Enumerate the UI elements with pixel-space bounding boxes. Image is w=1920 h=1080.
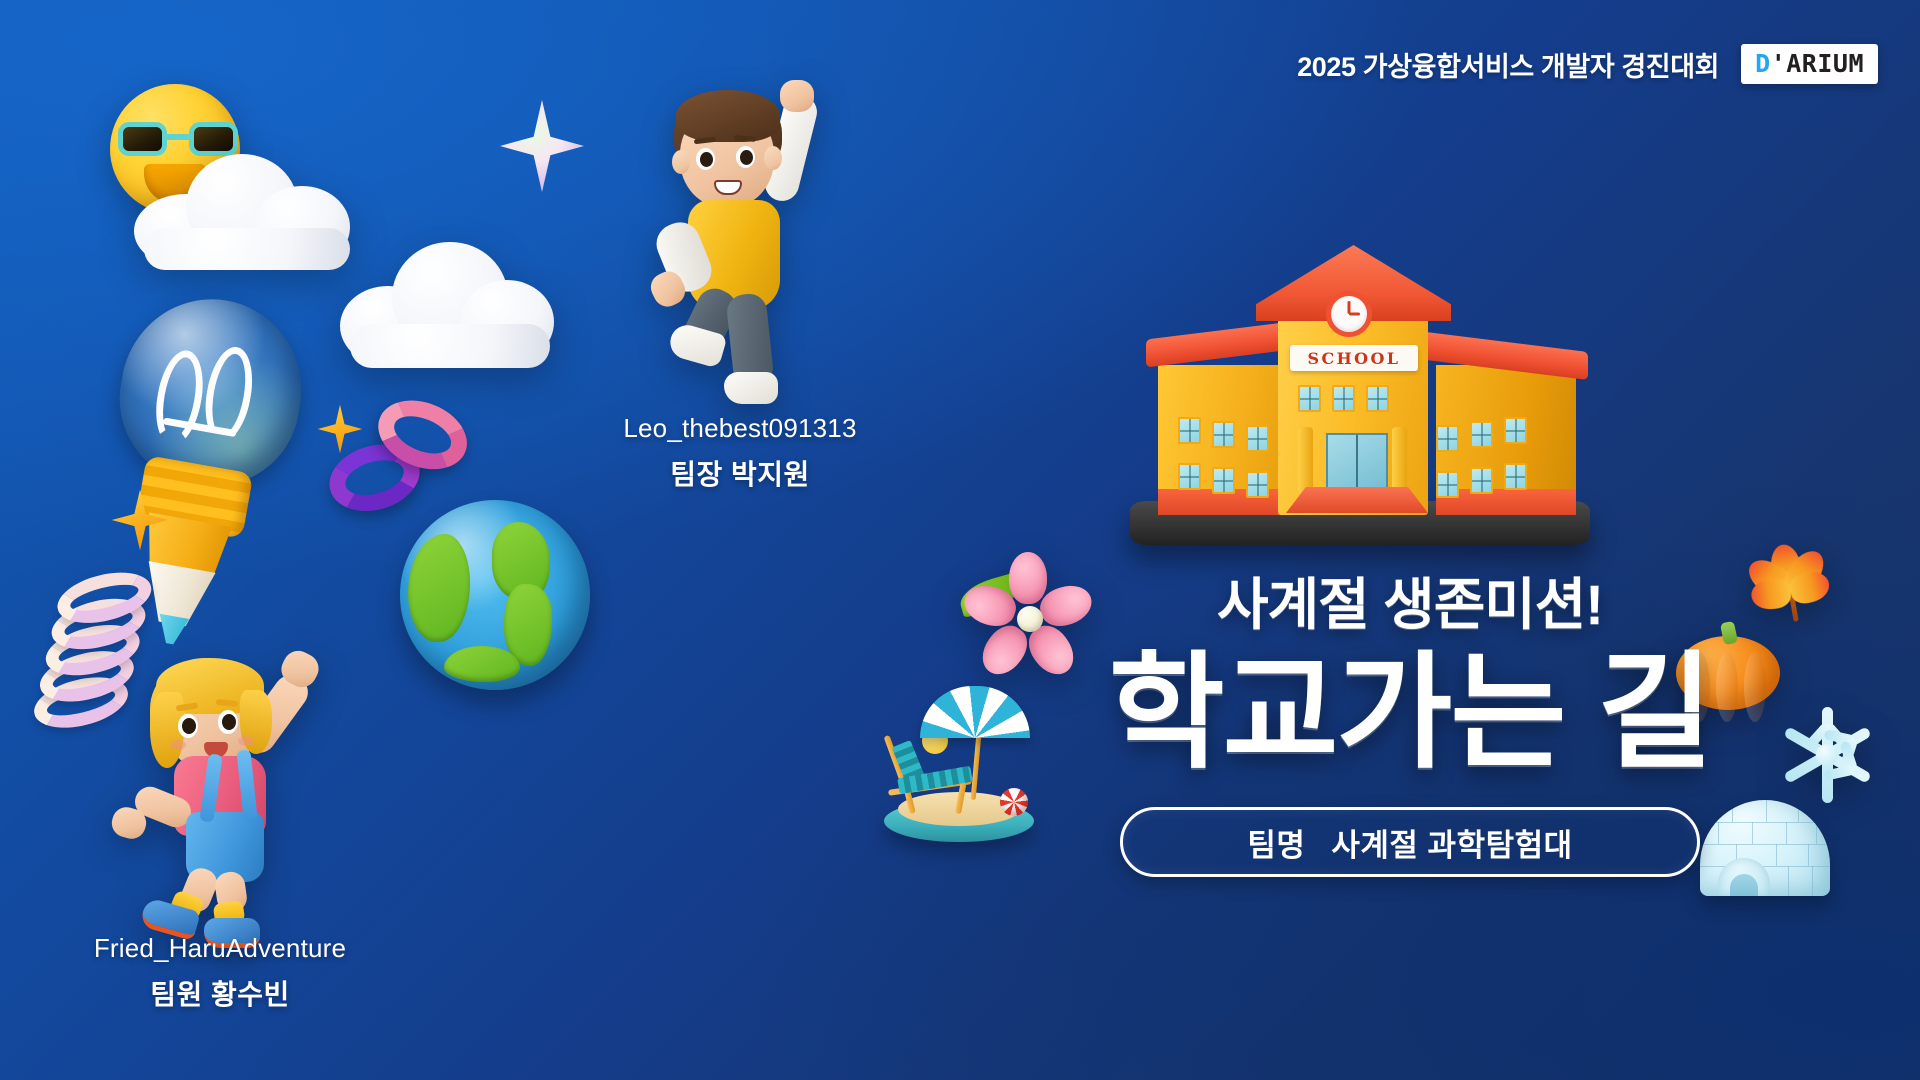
team-name-badge: 팀명 사계절 과학탐험대 bbox=[1120, 807, 1700, 877]
boy-character-icon bbox=[648, 72, 848, 402]
title-block: 사계절 생존미션! 학교가는 길 팀명 사계절 과학탐험대 bbox=[1040, 560, 1780, 877]
beach-ball-icon bbox=[1000, 788, 1028, 816]
girl-character-icon bbox=[112, 636, 362, 936]
school-building-icon: SCHOOL bbox=[1130, 245, 1590, 545]
member-handle: Fried_HaruAdventure bbox=[50, 932, 390, 966]
darium-logo: D 'ARIUM bbox=[1741, 44, 1878, 84]
cloud-icon bbox=[340, 240, 560, 370]
member-role: 팀원 황수빈 bbox=[50, 973, 390, 1013]
team-label: 팀명 bbox=[1247, 820, 1305, 865]
snowflake-icon bbox=[1772, 700, 1882, 810]
school-door bbox=[1326, 433, 1388, 493]
leader-role: 팀장 박지원 bbox=[600, 453, 880, 493]
team-name: 사계절 과학탐험대 bbox=[1331, 820, 1572, 865]
cloud-icon bbox=[130, 150, 360, 270]
globe-icon bbox=[400, 500, 590, 690]
logo-accent-letter: D bbox=[1755, 51, 1771, 76]
page-title: 학교가는 길 bbox=[1040, 647, 1780, 779]
beach-umbrella-chair-icon bbox=[884, 672, 1034, 842]
subtitle: 사계절 생존미션! bbox=[1040, 560, 1780, 641]
iridescent-sparkle-icon bbox=[500, 100, 584, 192]
team-member-label: Fried_HaruAdventure 팀원 황수빈 bbox=[50, 932, 390, 1013]
school-sign: SCHOOL bbox=[1290, 345, 1418, 371]
leader-handle: Leo_thebest091313 bbox=[600, 412, 880, 446]
sparkle-star-icon bbox=[112, 490, 168, 550]
clock-icon bbox=[1326, 291, 1372, 337]
team-leader-label: Leo_thebest091313 팀장 박지원 bbox=[600, 412, 880, 493]
event-title: 2025 가상융합서비스 개발자 경진대회 bbox=[1297, 45, 1719, 84]
poster-canvas: 2025 가상융합서비스 개발자 경진대회 D 'ARIUM bbox=[0, 0, 1920, 1080]
header: 2025 가상융합서비스 개발자 경진대회 D 'ARIUM bbox=[1297, 44, 1878, 84]
logo-rest-text: 'ARIUM bbox=[1771, 51, 1864, 76]
